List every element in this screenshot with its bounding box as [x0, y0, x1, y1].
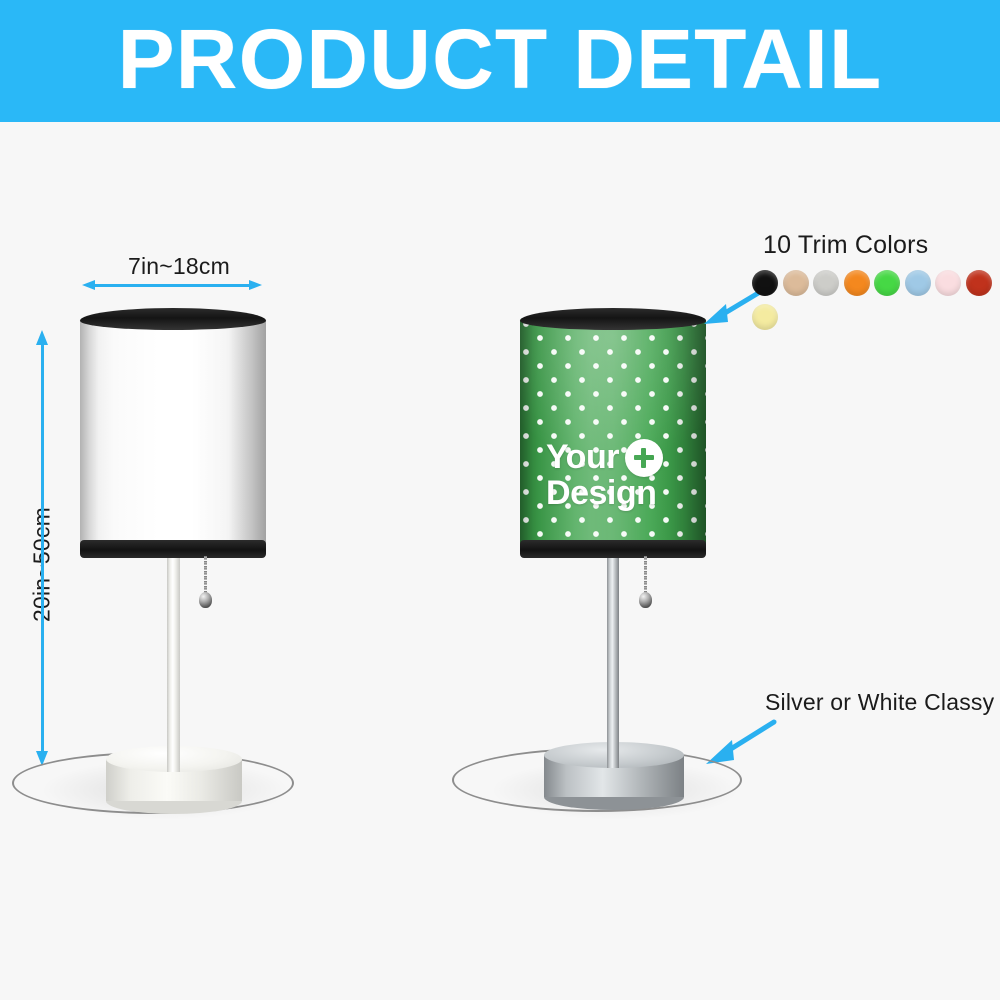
trim-swatch-green[interactable]	[874, 270, 900, 296]
width-dimension-label: 7in~18cm	[128, 253, 230, 280]
shade-top-trim-right	[520, 308, 706, 330]
polka-dot-pattern	[520, 318, 706, 550]
lamp-pole-left	[167, 556, 180, 772]
design-text-line1: Your	[546, 441, 619, 474]
trim-swatch-gray[interactable]	[813, 270, 839, 296]
pull-chain-ball-left[interactable]	[199, 592, 212, 608]
shade-body-left	[80, 318, 266, 550]
pull-chain-left[interactable]	[204, 556, 207, 596]
trim-colors-heading: 10 Trim Colors	[763, 231, 928, 260]
trim-swatch-orange[interactable]	[844, 270, 870, 296]
lamp-green: Your Design	[440, 0, 780, 1000]
trim-swatch-dark-red[interactable]	[966, 270, 992, 296]
design-text-line2: Design	[546, 477, 663, 510]
pull-chain-right[interactable]	[644, 556, 647, 596]
plus-icon	[625, 439, 663, 477]
width-dimension-arrow	[82, 281, 262, 290]
product-detail-page: PRODUCT DETAIL	[0, 0, 1000, 1000]
height-arrow-bar	[41, 340, 44, 754]
your-design-placeholder: Your Design	[546, 439, 663, 510]
lampshade-white	[80, 308, 266, 558]
shade-bottom-trim-left	[80, 540, 266, 558]
height-dimension-arrow	[37, 330, 48, 766]
trim-swatch-yellow[interactable]	[752, 304, 778, 330]
trim-swatch-pink[interactable]	[935, 270, 961, 296]
width-arrow-bar	[90, 284, 254, 287]
width-arrow-head-right	[249, 280, 262, 290]
pull-chain-ball-right[interactable]	[639, 592, 652, 608]
shade-bottom-trim-right	[520, 540, 706, 558]
trim-swatch-light-blue[interactable]	[905, 270, 931, 296]
shade-top-trim-left	[80, 308, 266, 330]
lamp-pole-right	[607, 556, 619, 768]
trim-swatch-row-1	[752, 270, 1000, 296]
shade-body-right: Your Design	[520, 318, 706, 550]
trim-color-swatches	[752, 270, 1000, 338]
shade-gloss-left	[80, 318, 266, 550]
base-finish-label: Silver or White Classy	[765, 689, 994, 716]
lampshade-green: Your Design	[520, 308, 706, 558]
trim-swatch-black[interactable]	[752, 270, 778, 296]
trim-swatch-tan[interactable]	[783, 270, 809, 296]
trim-swatch-row-2	[752, 304, 1000, 330]
